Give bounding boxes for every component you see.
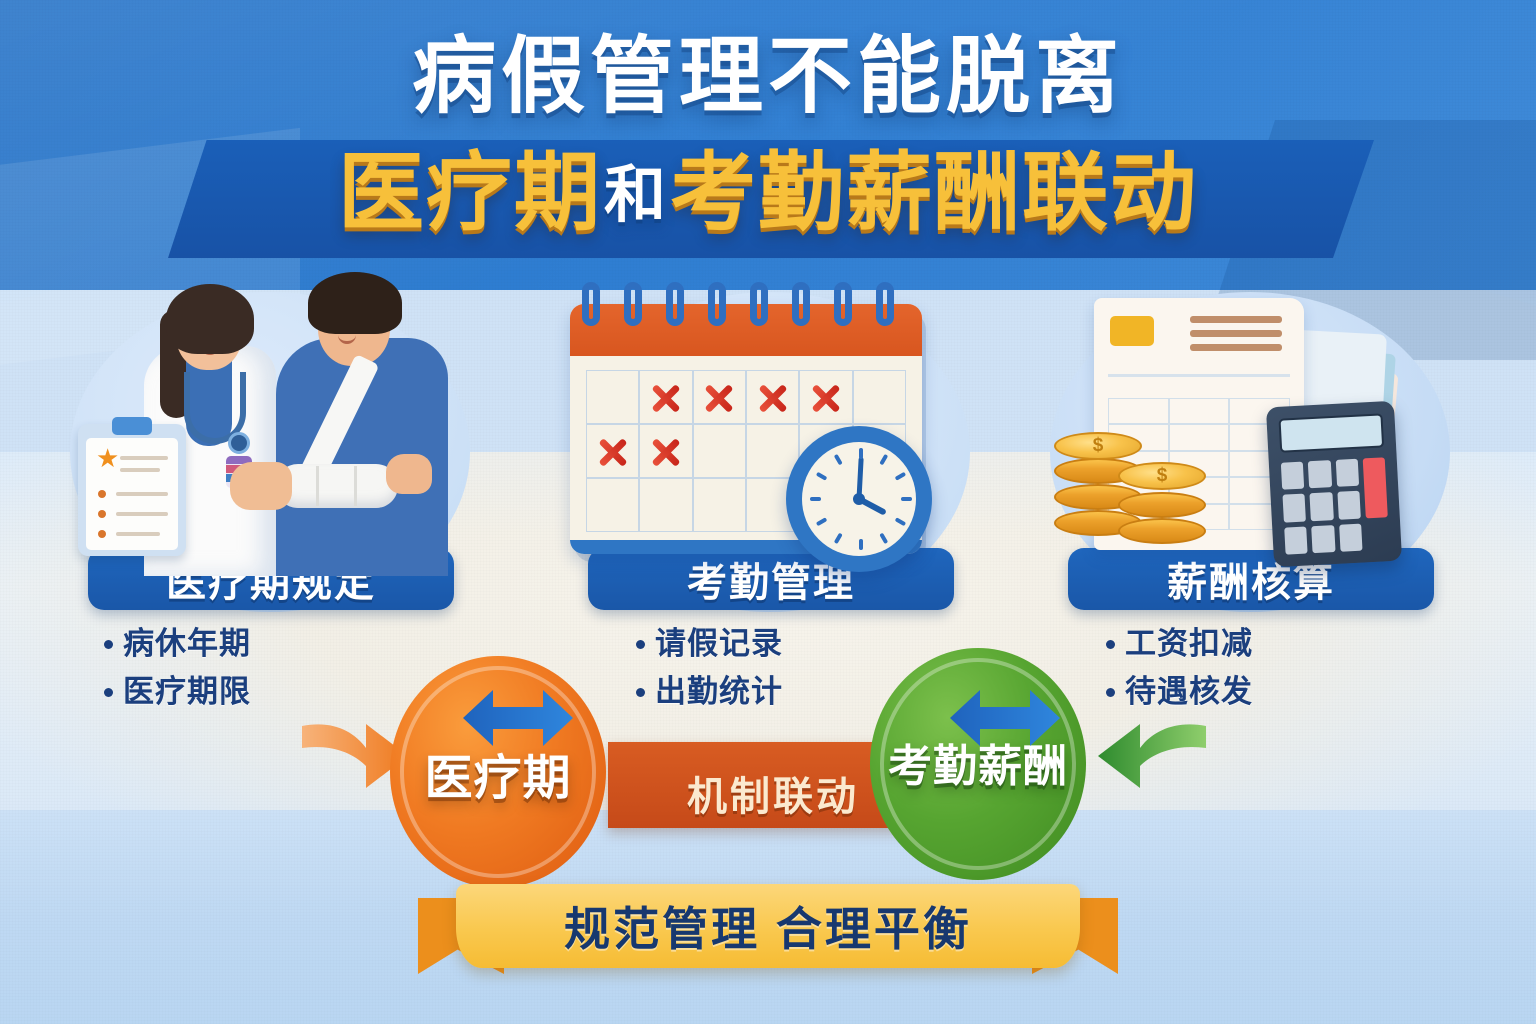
calendar-cell	[746, 370, 799, 424]
clipboard-line-2	[120, 468, 160, 472]
panel-2-bullet-2-text: 出勤统计	[655, 668, 783, 716]
calculator-key	[1337, 491, 1361, 519]
panel-1-bullet-1-text: 病休年期	[123, 620, 251, 668]
double-arrow-icon-2	[950, 680, 1060, 756]
handshake	[230, 462, 292, 510]
stethoscope-bell-icon	[228, 432, 250, 454]
calendar-ring	[750, 282, 768, 326]
bullet-dot-icon	[104, 640, 113, 649]
x-mark-icon	[809, 380, 843, 414]
x-mark-icon	[649, 434, 683, 468]
coin-icon-top: $	[1118, 462, 1206, 490]
calendar-cell	[586, 478, 639, 532]
panel-2-bullets: 请假记录 出勤统计	[636, 620, 996, 716]
calendar-ring	[876, 282, 894, 326]
clock-tick	[879, 533, 888, 545]
ribbon-banner: 规范管理 合理平衡	[0, 880, 1536, 1000]
clock-tick	[816, 517, 828, 526]
bullet-dot-icon	[104, 688, 113, 697]
clock-tick	[879, 454, 888, 466]
calculator-key	[1310, 492, 1334, 520]
double-arrow-icon-1	[463, 680, 573, 756]
calendar-ring	[666, 282, 684, 326]
payslip-tag	[1110, 316, 1154, 346]
title-conjunction: 和	[602, 161, 670, 230]
calendar-ring	[582, 282, 600, 326]
payslip-bar-3	[1190, 344, 1282, 351]
clipboard-line-5	[116, 532, 160, 536]
calculator-key	[1335, 459, 1359, 487]
panel-1-bullet-2-text: 医疗期限	[123, 668, 251, 716]
clipboard-dot-3	[98, 530, 106, 538]
panel-2-bullet-1-text: 请假记录	[655, 620, 783, 668]
panel-3-bullet-1-text: 工资扣减	[1125, 620, 1253, 668]
x-mark-icon	[756, 380, 790, 414]
clock-tick	[834, 454, 843, 466]
patient-hand	[386, 454, 432, 494]
clock-tick	[859, 539, 863, 550]
x-mark-icon	[596, 434, 630, 468]
clipboard-line-3	[116, 492, 168, 496]
calculator-key	[1281, 462, 1305, 490]
calendar-cell	[693, 424, 746, 478]
payslip-cell	[1169, 424, 1230, 450]
ribbon-body: 规范管理 合理平衡	[456, 884, 1080, 968]
clipboard-icon: ★	[78, 424, 186, 556]
coin-icon	[1118, 492, 1206, 518]
payslip-bar-2	[1190, 330, 1282, 337]
clipboard-line-1	[120, 456, 168, 460]
patient-hair	[308, 272, 402, 334]
calendar-ring	[834, 282, 852, 326]
payslip-coins-calculator-illustration: $ $	[1040, 276, 1460, 576]
calendar-cell	[693, 478, 746, 532]
bandaged-arm	[276, 464, 398, 508]
panel-1-bullets: 病休年期 医疗期限	[104, 620, 464, 716]
clock-tick	[895, 517, 907, 526]
calculator-key	[1284, 526, 1308, 554]
calculator-key	[1339, 523, 1363, 551]
doctor-hair	[166, 284, 254, 354]
bullet-dot-icon	[1106, 688, 1115, 697]
calendar-cell	[853, 370, 906, 424]
bullet-dot-icon	[1106, 640, 1115, 649]
clipboard-line-4	[116, 512, 168, 516]
calendar-cell	[586, 424, 639, 478]
doctor-patient-illustration: ★	[60, 276, 480, 576]
coin-icon-top: $	[1054, 432, 1142, 460]
panel-payroll[interactable]: $ $ 薪酬核算 工资扣减	[1040, 276, 1460, 676]
bullet-dot-icon	[636, 688, 645, 697]
coin-icon	[1118, 518, 1206, 544]
clock-tick	[895, 472, 907, 481]
clock-tick	[859, 448, 863, 459]
clock-center-pin	[853, 493, 865, 505]
title-block: 病假管理不能脱离	[0, 32, 1536, 122]
panel-3-bullet-1: 工资扣减	[1106, 620, 1466, 668]
calendar-ring	[708, 282, 726, 326]
calendar-cell	[586, 370, 639, 424]
panel-medical-period[interactable]: ★ 医疗期规定	[60, 276, 480, 676]
panel-2-bullet-2: 出勤统计	[636, 668, 996, 716]
clock-tick	[834, 533, 843, 545]
clock-icon	[786, 426, 932, 572]
calculator-key-accent	[1362, 457, 1387, 518]
calendar-cell	[639, 370, 692, 424]
x-mark-icon	[649, 380, 683, 414]
clipboard-paper: ★	[86, 438, 178, 550]
bullet-dot-icon	[636, 640, 645, 649]
calculator-key	[1311, 525, 1335, 553]
payslip-cell	[1169, 398, 1230, 424]
payslip-rule	[1108, 374, 1290, 377]
title-line-1: 病假管理不能脱离	[0, 32, 1536, 122]
panel-1-bullet-1: 病休年期	[104, 620, 464, 668]
panel-3-bullet-2-text: 待遇核发	[1125, 668, 1253, 716]
clock-tick	[810, 497, 821, 501]
panel-3-bullets: 工资扣减 待遇核发	[1106, 620, 1466, 716]
clipboard-clamp	[112, 417, 152, 435]
payslip-bar-1	[1190, 316, 1282, 323]
panel-attendance[interactable]: 考勤管理 请假记录 出勤统计	[560, 276, 980, 676]
calendar-cell	[639, 478, 692, 532]
calculator-key	[1308, 460, 1332, 488]
calendar-clock-illustration	[560, 276, 980, 576]
infographic-poster: 病假管理不能脱离 医疗期和考勤薪酬联动	[0, 0, 1536, 1024]
panels-row: ★ 医疗期规定	[0, 276, 1536, 696]
title-part-attendance-pay: 考勤薪酬联动	[670, 145, 1198, 241]
x-mark-icon	[702, 380, 736, 414]
title-part-medical-period: 医疗期	[338, 145, 602, 241]
clock-tick	[901, 497, 912, 501]
ribbon-text: 规范管理 合理平衡	[564, 893, 972, 959]
calendar-cell	[693, 370, 746, 424]
title-line-2: 医疗期和考勤薪酬联动	[0, 146, 1536, 241]
clock-face	[802, 442, 916, 556]
calendar-ring	[624, 282, 642, 326]
calendar-cell	[799, 370, 852, 424]
calendar-cell	[639, 424, 692, 478]
calculator-icon	[1266, 401, 1402, 567]
panel-1-bullet-2: 医疗期限	[104, 668, 464, 716]
calendar-ring	[792, 282, 810, 326]
calendar-rings	[582, 282, 912, 330]
panel-3-bullet-2: 待遇核发	[1106, 668, 1466, 716]
calculator-keys	[1281, 457, 1390, 554]
payslip-cell	[1108, 398, 1169, 424]
calculator-key	[1283, 494, 1307, 522]
clipboard-dot-1	[98, 490, 106, 498]
panel-2-bullet-1: 请假记录	[636, 620, 996, 668]
calculator-screen	[1279, 413, 1385, 452]
clock-tick	[816, 472, 828, 481]
patient-smile	[338, 334, 356, 344]
clipboard-dot-2	[98, 510, 106, 518]
